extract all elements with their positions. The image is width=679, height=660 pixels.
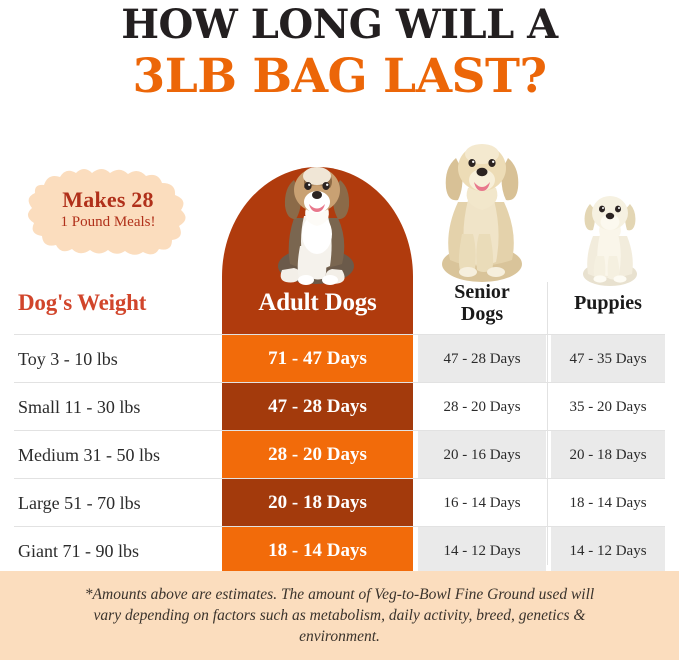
badge-line-2: 1 Pound Meals!	[61, 213, 156, 231]
header-senior-line-2: Dogs	[461, 303, 503, 325]
row-weight-label: Toy 3 - 10 lbs	[14, 335, 218, 383]
page-title: HOW LONG WILL A 3LB BAG LAST?	[0, 2, 679, 104]
row-weight-label: Medium 31 - 50 lbs	[14, 431, 218, 479]
header-dogs-weight: Dog's Weight	[14, 270, 218, 335]
row-puppy-value: 18 - 14 Days	[551, 479, 665, 527]
row-weight-label: Giant 71 - 90 lbs	[14, 527, 218, 575]
row-puppy-value: 47 - 35 Days	[551, 335, 665, 383]
senior-dog-image	[428, 136, 536, 288]
title-line-2: 3LB BAG LAST?	[0, 50, 679, 104]
row-puppy-value: 35 - 20 Days	[551, 383, 665, 431]
row-adult-value: 20 - 18 Days	[222, 479, 413, 527]
row-senior-value: 28 - 20 Days	[418, 383, 546, 431]
row-adult-value: 71 - 47 Days	[222, 335, 413, 383]
title-line-1: HOW LONG WILL A	[0, 2, 679, 48]
header-senior-line-1: Senior	[454, 281, 510, 303]
row-adult-value: 28 - 20 Days	[222, 431, 413, 479]
infographic-page: HOW LONG WILL A 3LB BAG LAST? Makes 28 1…	[0, 0, 679, 660]
column-divider	[547, 282, 548, 565]
row-senior-value: 20 - 16 Days	[418, 431, 546, 479]
feeding-duration-table: Dog's Weight Adult Dogs Senior Dogs Pupp…	[0, 270, 679, 575]
footnote-banner: *Amounts above are estimates. The amount…	[0, 571, 679, 660]
row-adult-value: 18 - 14 Days	[222, 527, 413, 575]
table-header-row: Dog's Weight Adult Dogs Senior Dogs Pupp…	[0, 270, 679, 335]
header-adult-dogs: Adult Dogs	[222, 270, 413, 335]
table-row: Large 51 - 70 lbs 20 - 18 Days 16 - 14 D…	[0, 479, 679, 527]
table-row: Small 11 - 30 lbs 47 - 28 Days 28 - 20 D…	[0, 383, 679, 431]
makes-meals-badge: Makes 28 1 Pound Meals!	[22, 163, 194, 255]
footnote-text: *Amounts above are estimates. The amount…	[70, 584, 610, 647]
row-senior-value: 47 - 28 Days	[418, 335, 546, 383]
row-senior-value: 16 - 14 Days	[418, 479, 546, 527]
table-row: Giant 71 - 90 lbs 18 - 14 Days 14 - 12 D…	[0, 527, 679, 575]
row-puppy-value: 14 - 12 Days	[551, 527, 665, 575]
header-puppies: Puppies	[551, 270, 665, 335]
row-senior-value: 14 - 12 Days	[418, 527, 546, 575]
table-row: Medium 31 - 50 lbs 28 - 20 Days 20 - 16 …	[0, 431, 679, 479]
badge-text-block: Makes 28 1 Pound Meals!	[22, 163, 194, 255]
row-weight-label: Small 11 - 30 lbs	[14, 383, 218, 431]
table-row: Toy 3 - 10 lbs 71 - 47 Days 47 - 28 Days…	[0, 335, 679, 383]
header-senior-dogs: Senior Dogs	[418, 270, 546, 335]
badge-line-1: Makes 28	[62, 188, 153, 212]
row-puppy-value: 20 - 18 Days	[551, 431, 665, 479]
row-weight-label: Large 51 - 70 lbs	[14, 479, 218, 527]
row-adult-value: 47 - 28 Days	[222, 383, 413, 431]
